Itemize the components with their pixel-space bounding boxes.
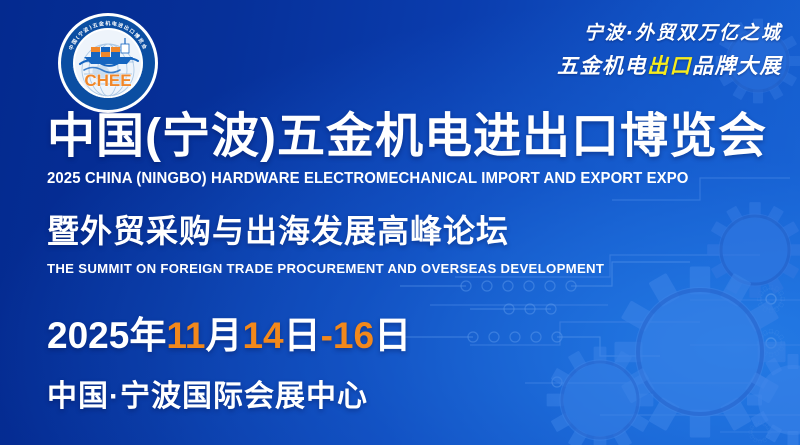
forum-subtitle-cn: 暨外贸采购与出海发展高峰论坛 [47, 206, 787, 252]
date-separator: - [321, 315, 333, 356]
main-content: 中国(宁波)五金机电进出口博览会 2025 CHINA (NINGBO) HAR… [47, 112, 787, 415]
forum-subtitle-en: THE SUMMIT ON FOREIGN TRADE PROCUREMENT … [47, 261, 787, 276]
date-day-end: 16 [333, 315, 374, 356]
date-day-unit-end: 日 [374, 315, 411, 356]
date-year: 2025 [47, 315, 129, 356]
slogan-line-2-prefix: 五金机电 [557, 54, 647, 78]
event-venue: 中国·宁波国际会展中心 [47, 371, 787, 415]
slogan-line-2-suffix: 品牌大展 [692, 54, 782, 78]
date-year-unit: 年 [129, 315, 166, 356]
slogan-line-2-highlight: 出口 [647, 54, 692, 78]
slogan-line-1: 宁波·外贸双万亿之城 [557, 24, 782, 44]
date-month-unit: 月 [205, 315, 242, 356]
expo-title-en: 2025 CHINA (NINGBO) HARDWARE ELECTROMECH… [47, 170, 765, 188]
date-month: 11 [166, 315, 205, 356]
event-date: 2025年11月14日-16日 [47, 305, 787, 359]
expo-poster: 中国(宁波)五金机电进出口博览会 CHINA (NINGBO) HARDWARE… [0, 0, 800, 445]
slogan-line-2: 五金机电出口品牌大展 [557, 55, 782, 77]
date-day-unit-start: 日 [284, 315, 321, 356]
expo-title-cn: 中国(宁波)五金机电进出口博览会 [47, 112, 787, 163]
date-day-start: 14 [242, 315, 283, 356]
slogan-block: 宁波·外贸双万亿之城 五金机电出口品牌大展 [557, 24, 782, 77]
logo-acronym: CHEE [84, 71, 131, 90]
chee-logo: 中国(宁波)五金机电进出口博览会 CHINA (NINGBO) HARDWARE… [57, 12, 159, 114]
